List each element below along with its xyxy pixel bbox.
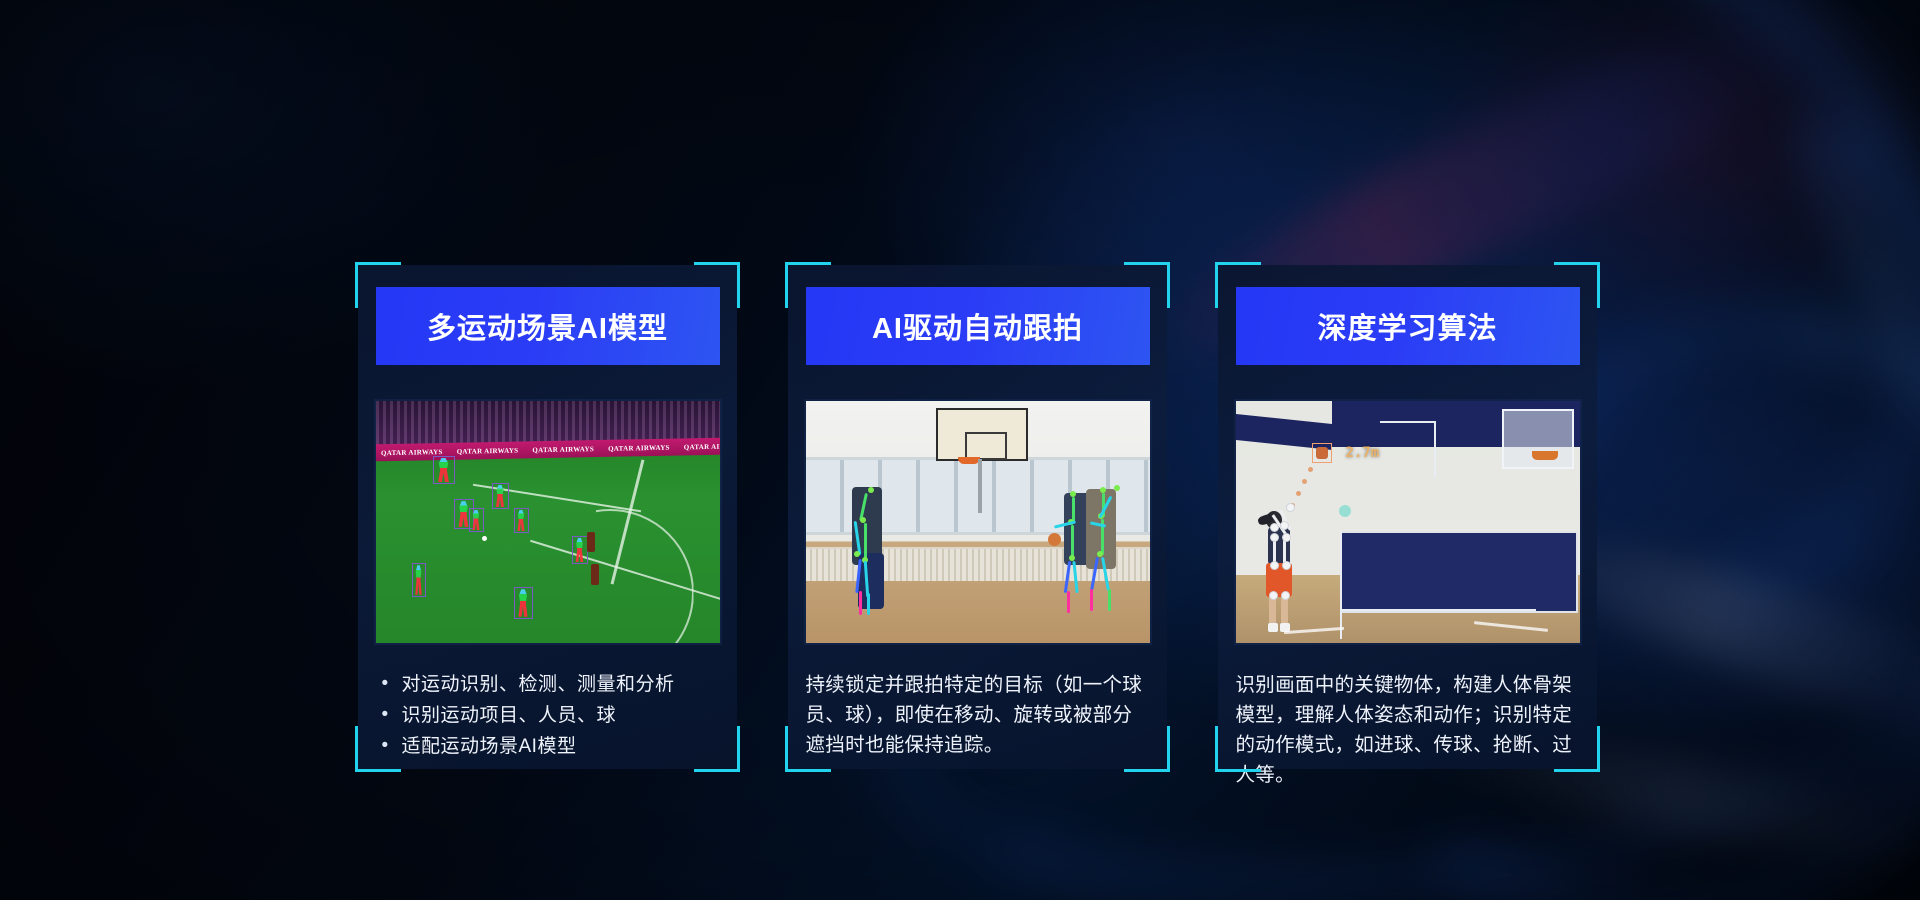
hoop-pole bbox=[978, 459, 982, 513]
soccer-ball bbox=[482, 536, 487, 541]
card-body: 识别画面中的关键物体，构建人体骨架模型，理解人体姿态和动作；识别特定的动作模式，… bbox=[1236, 670, 1580, 790]
tracking-guide-line bbox=[1340, 609, 1536, 611]
basketball bbox=[1048, 533, 1061, 546]
unlabeled-player bbox=[587, 532, 595, 552]
feature-card-deep-learning-algorithm[interactable]: 深度学习算法 2.7m bbox=[1215, 262, 1600, 772]
banner-text: QATAR AIRWAYS bbox=[676, 442, 719, 451]
feature-bullet-list: 对运动识别、检测、测量和分析 识别运动项目、人员、球 适配运动场景AI模型 bbox=[376, 670, 720, 762]
detection-box bbox=[572, 536, 588, 564]
pose-skeleton bbox=[850, 483, 900, 623]
trajectory-point bbox=[1339, 505, 1351, 517]
trajectory-point bbox=[1296, 491, 1301, 496]
list-item: 识别运动项目、人员、球 bbox=[376, 701, 720, 731]
basketball-pose-thumbnail bbox=[806, 401, 1150, 643]
card-title: AI驱动自动跟拍 bbox=[806, 287, 1150, 365]
banner-text: QATAR AIRWAYS bbox=[525, 444, 601, 453]
hoop-icon bbox=[958, 457, 980, 464]
card-description: 识别画面中的关键物体，构建人体骨架模型，理解人体姿态和动作；识别特定的动作模式，… bbox=[1236, 670, 1580, 790]
detection-box bbox=[514, 508, 529, 533]
ball-detection-box bbox=[1312, 443, 1332, 463]
wall-padding bbox=[1340, 531, 1578, 613]
pose-skeleton bbox=[1084, 483, 1136, 621]
detection-box bbox=[514, 587, 533, 619]
feature-card-ai-auto-tracking-shot[interactable]: AI驱动自动跟拍 bbox=[785, 262, 1170, 772]
backboard bbox=[1502, 409, 1574, 469]
football-detection-thumbnail: QATAR AIRWAYS QATAR AIRWAYS QATAR AIRWAY… bbox=[376, 401, 720, 643]
tracking-guide-line bbox=[1434, 421, 1436, 477]
shot-trajectory-thumbnail: 2.7m bbox=[1236, 401, 1580, 643]
trajectory-point bbox=[1308, 467, 1313, 472]
tracking-guide-line bbox=[1340, 531, 1342, 639]
feature-card-multi-sport-ai-model[interactable]: 多运动场景AI模型 QATAR AIRWAYS QATAR AIRWAYS QA… bbox=[355, 262, 740, 772]
card-title: 多运动场景AI模型 bbox=[376, 287, 720, 365]
list-item: 适配运动场景AI模型 bbox=[376, 732, 720, 762]
player-pose-skeleton bbox=[1260, 505, 1310, 635]
backboard bbox=[936, 408, 1028, 461]
card-body: 持续锁定并跟拍特定的目标（如一个球员、球），即使在移动、旋转或被部分遮挡时也能保… bbox=[806, 670, 1150, 769]
detection-box bbox=[433, 456, 455, 484]
unlabeled-player bbox=[591, 564, 599, 585]
banner-text: QATAR AIRWAYS bbox=[449, 446, 525, 455]
feature-card-list: 多运动场景AI模型 QATAR AIRWAYS QATAR AIRWAYS QA… bbox=[355, 262, 1600, 772]
detection-box bbox=[469, 508, 484, 532]
detection-box bbox=[492, 483, 509, 509]
trajectory-point bbox=[1302, 479, 1307, 484]
tracking-guide-line bbox=[1380, 421, 1436, 423]
list-item: 对运动识别、检测、测量和分析 bbox=[376, 670, 720, 700]
distance-label: 2.7m bbox=[1346, 445, 1380, 461]
card-body: 对运动识别、检测、测量和分析 识别运动项目、人员、球 适配运动场景AI模型 bbox=[376, 670, 720, 769]
hoop-icon bbox=[1532, 451, 1558, 460]
banner-text: QATAR AIRWAYS bbox=[601, 443, 677, 452]
card-title: 深度学习算法 bbox=[1236, 287, 1580, 365]
card-description: 持续锁定并跟拍特定的目标（如一个球员、球），即使在移动、旋转或被部分遮挡时也能保… bbox=[806, 670, 1150, 760]
detection-box bbox=[412, 563, 426, 597]
